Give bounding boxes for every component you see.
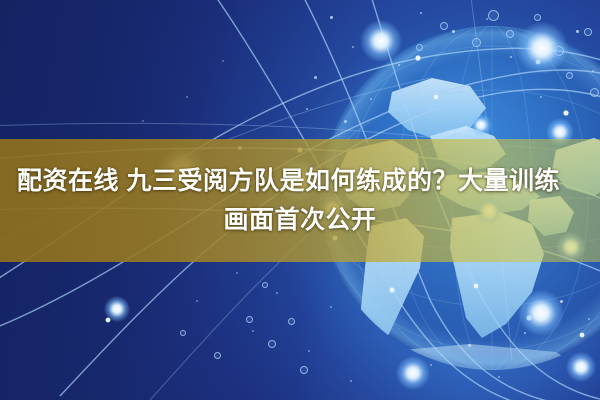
starfield-dot [452,30,455,33]
starfield-dot [524,332,526,334]
starfield-dot [350,380,352,382]
starfield-dot [344,120,347,123]
banner-image: 配资在线 九三受阅方队是如何练成的？大量训练 画面首次公开 [0,0,600,400]
starfield-dot [142,120,144,122]
bubble [472,38,481,47]
bubble [534,14,541,21]
bubble [554,46,564,56]
bubble [180,330,186,336]
bubble [416,44,423,51]
starfield-dot [314,76,317,79]
bubble [288,318,295,325]
starfield-dot [186,96,188,98]
starfield-dot [252,330,254,332]
starfield-dot [592,70,594,72]
starfield-dot [196,300,198,302]
starfield-dot [352,46,354,48]
bubble [590,88,599,97]
bubble [268,340,276,348]
starfield-dot [330,306,332,308]
glow-star [518,290,564,336]
starfield-dot [468,344,471,347]
starfield-dot [510,56,512,58]
starfield-dot [420,12,422,14]
bubble [566,72,573,79]
bubble [300,366,308,374]
starfield-dot [498,376,500,378]
bubble [584,28,592,36]
starfield-dot [370,98,372,100]
glow-star [360,20,402,62]
starfield-dot [398,64,400,66]
starfield-dot [486,18,488,20]
glow-star [396,356,430,390]
starfield-dot [430,364,432,366]
starfield-dot [308,350,310,352]
bubble [246,316,253,323]
starfield-dot [306,108,308,110]
glow-star [566,352,596,382]
bubble [262,282,268,288]
bubble [488,10,499,21]
bubble [214,352,221,359]
starfield-dot [236,272,238,274]
banner-title-line-2: 画面首次公开 [0,208,600,233]
glow-star [104,296,130,322]
bubble [440,22,448,30]
starfield-dot [576,30,579,33]
banner-title-line-1: 配资在线 九三受阅方队是如何练成的？大量训练 [0,169,600,194]
starfield-dot [222,60,224,62]
glow-star [470,114,492,136]
banner-title-block: 配资在线 九三受阅方队是如何练成的？大量训练 画面首次公开 [0,139,600,262]
starfield-dot [330,16,333,19]
starfield-dot [276,292,278,294]
starfield-dot [588,318,590,320]
bubble [506,30,514,38]
starfield-dot [540,96,542,98]
starfield-dot [560,300,563,303]
